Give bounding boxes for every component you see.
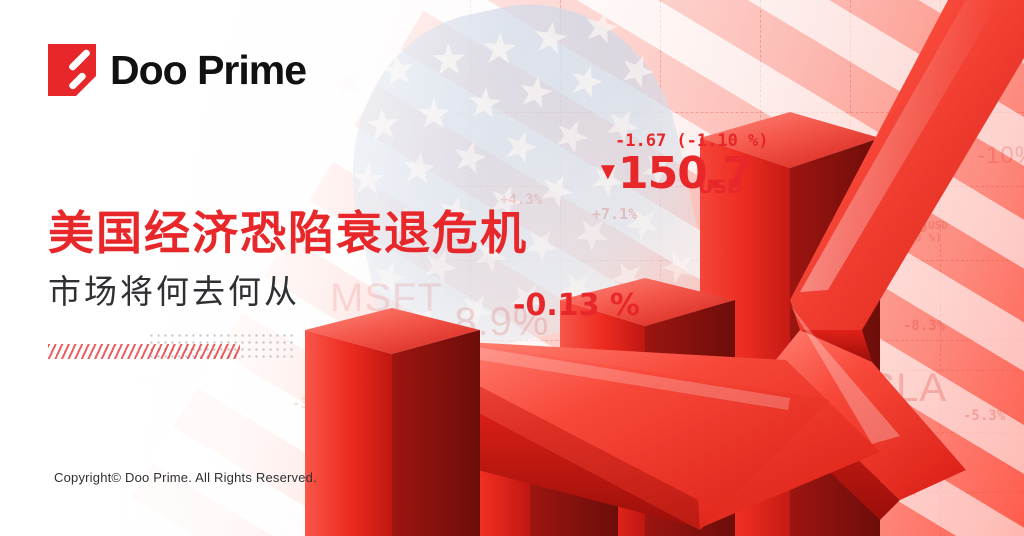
star-icon bbox=[568, 64, 606, 102]
brand-logo[interactable]: Doo Prime bbox=[48, 44, 306, 96]
doo-prime-logo-icon bbox=[48, 44, 96, 96]
hatch-stripe-decoration bbox=[48, 344, 240, 359]
star-icon bbox=[518, 74, 556, 112]
star-icon bbox=[379, 51, 417, 89]
price-currency: USD bbox=[698, 176, 743, 198]
ticker-label: +7.1% bbox=[592, 205, 637, 223]
star-icon bbox=[456, 292, 494, 330]
page-subtitle: 市场将何去何从 bbox=[48, 272, 300, 312]
ticker-label: -3.9% bbox=[292, 396, 334, 412]
ticker-label: -0.40 bbox=[820, 385, 865, 403]
star-icon bbox=[553, 120, 591, 157]
star-icon bbox=[350, 160, 387, 198]
chart-bar-1 bbox=[305, 308, 480, 536]
star-icon bbox=[328, 62, 366, 99]
star-icon bbox=[370, 260, 408, 298]
promo-banner: MSFT-2.3%+4.3%-8.9%+7.1%-3.9%-11%-10%123… bbox=[0, 0, 1024, 536]
bar-percent-label: -0.13 % bbox=[513, 288, 640, 323]
star-icon bbox=[572, 216, 609, 254]
page-title: 美国经济恐陷衰退危机 bbox=[48, 208, 528, 259]
star-icon bbox=[364, 105, 402, 143]
ticker-label: ZN bbox=[830, 240, 885, 285]
star-icon bbox=[619, 54, 657, 91]
down-trend-arrow bbox=[448, 0, 1024, 536]
star-icon bbox=[623, 205, 660, 243]
star-icon bbox=[502, 129, 540, 167]
star-icon bbox=[402, 150, 439, 188]
ticker-label: (-0.13 %) bbox=[824, 398, 873, 408]
ticker-label: -5.3% bbox=[963, 408, 1005, 424]
ticker-label: USD bbox=[866, 389, 882, 399]
ticker-label: -8.3% bbox=[903, 318, 945, 334]
star-icon bbox=[431, 40, 469, 78]
brand-name: Doo Prime bbox=[110, 50, 306, 91]
star-icon bbox=[482, 30, 519, 68]
decorative-divider bbox=[48, 332, 293, 364]
star-icon bbox=[468, 84, 505, 122]
star-icon bbox=[406, 304, 444, 341]
chart-bar-2 bbox=[440, 428, 618, 536]
star-icon bbox=[659, 247, 697, 285]
ticker-label: USD bbox=[928, 219, 948, 232]
down-triangle-icon: ▼ bbox=[596, 160, 620, 184]
star-icon bbox=[533, 20, 570, 58]
ticker-label: (-2.18 %) bbox=[882, 231, 942, 244]
star-icon bbox=[584, 9, 622, 47]
star-icon bbox=[452, 139, 490, 177]
ticker-label: -10% bbox=[977, 142, 1024, 170]
star-icon bbox=[537, 174, 575, 211]
ticker-label: 123.5 bbox=[868, 213, 928, 237]
copyright-text: Copyright© Doo Prime. All Rights Reserve… bbox=[54, 470, 317, 485]
ticker-label: +11% bbox=[887, 484, 916, 498]
star-icon bbox=[416, 95, 454, 133]
ticker-label: MSFT bbox=[330, 276, 443, 321]
ticker-label: TSLA bbox=[843, 366, 947, 411]
ticker-label: -2.3% bbox=[425, 324, 473, 343]
ticker-label: -11% bbox=[487, 450, 550, 481]
